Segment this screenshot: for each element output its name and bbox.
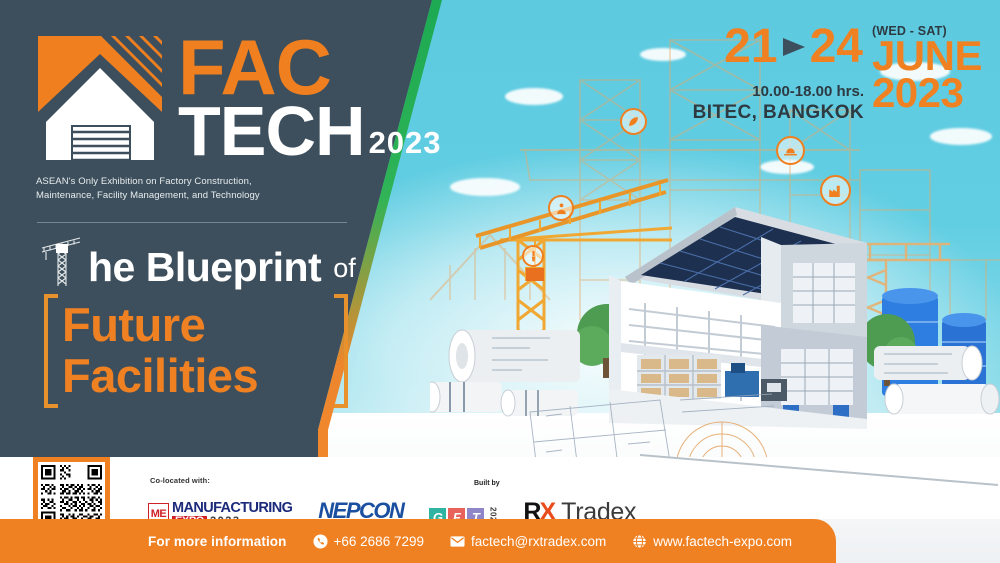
worker-icon: [548, 195, 574, 221]
logo-year-text: 2023: [369, 125, 442, 161]
factory-roof-icon: [36, 34, 164, 166]
headline-line3: Facilities: [62, 351, 346, 402]
factech-logo: FAC TECH 2023 ASEAN's Only Exhibition on…: [36, 34, 386, 203]
bracketed-headline: Future Facilities: [36, 294, 346, 408]
arrow-right-icon: [781, 36, 807, 58]
logo-fac-text: FAC: [178, 36, 442, 100]
footer-website[interactable]: www.factech-expo.com: [632, 534, 792, 549]
globe-icon: [632, 534, 647, 549]
headline-line1: he Blueprint: [88, 247, 321, 288]
headline-line2: Future: [62, 300, 346, 351]
hard-hat-icon: [776, 136, 805, 165]
footer-website-text: www.factech-expo.com: [653, 534, 792, 549]
footer-email-text: factech@rxtradex.com: [471, 534, 606, 549]
me-name: MANUFACTURING: [172, 501, 292, 516]
phone-icon: [313, 534, 328, 549]
blueprint-rolls-icon: [860, 340, 1000, 430]
crane-icon: [36, 232, 86, 288]
headline-block: he Blueprint of Future Facilities: [36, 232, 396, 408]
footer-email[interactable]: factech@rxtradex.com: [450, 534, 606, 549]
date-year: 2023: [872, 74, 982, 113]
envelope-icon: [450, 534, 465, 549]
event-date-block: 21 24 (WED - SAT) JUNE 2023 10.00-18.00 …: [682, 24, 982, 124]
eco-leaf-icon: [620, 108, 647, 135]
bracket-right: [334, 294, 348, 408]
footer-phone[interactable]: +66 2686 7299: [313, 534, 424, 549]
footer-label: For more information: [148, 534, 287, 549]
factech-2023-event-banner: FAC TECH 2023 ASEAN's Only Exhibition on…: [0, 0, 1000, 563]
decorative-diagonal-line: [640, 453, 1000, 487]
footer-phone-text: +66 2686 7299: [334, 534, 424, 549]
headline-of: of: [333, 250, 356, 288]
date-day-start: 21: [724, 24, 777, 70]
tools-icon: [522, 245, 544, 267]
contact-footer-bar: For more information +66 2686 7299 facte…: [0, 519, 836, 563]
divider-line: [37, 222, 347, 223]
bracket-left: [44, 294, 58, 408]
logo-tech-text: TECH: [178, 100, 365, 163]
logo-subtitle: ASEAN's Only Exhibition on Factory Const…: [36, 175, 286, 203]
date-day-end: 24: [810, 24, 863, 70]
